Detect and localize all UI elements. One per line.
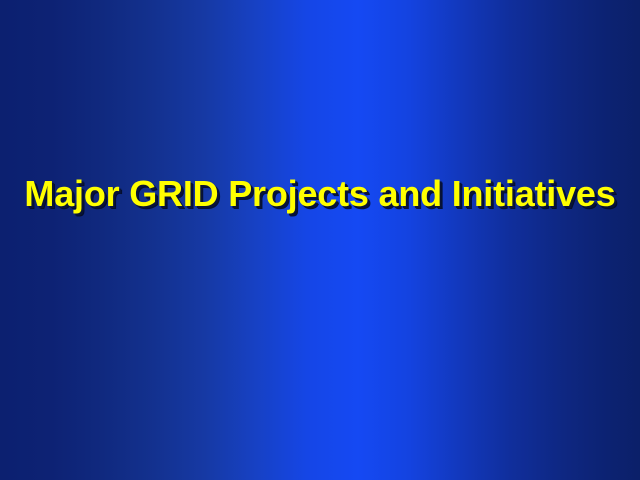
- presentation-slide: Major GRID Projects and Initiatives: [0, 0, 640, 480]
- page-title: Major GRID Projects and Initiatives: [24, 176, 615, 212]
- slide-title-block: Major GRID Projects and Initiatives: [0, 176, 640, 212]
